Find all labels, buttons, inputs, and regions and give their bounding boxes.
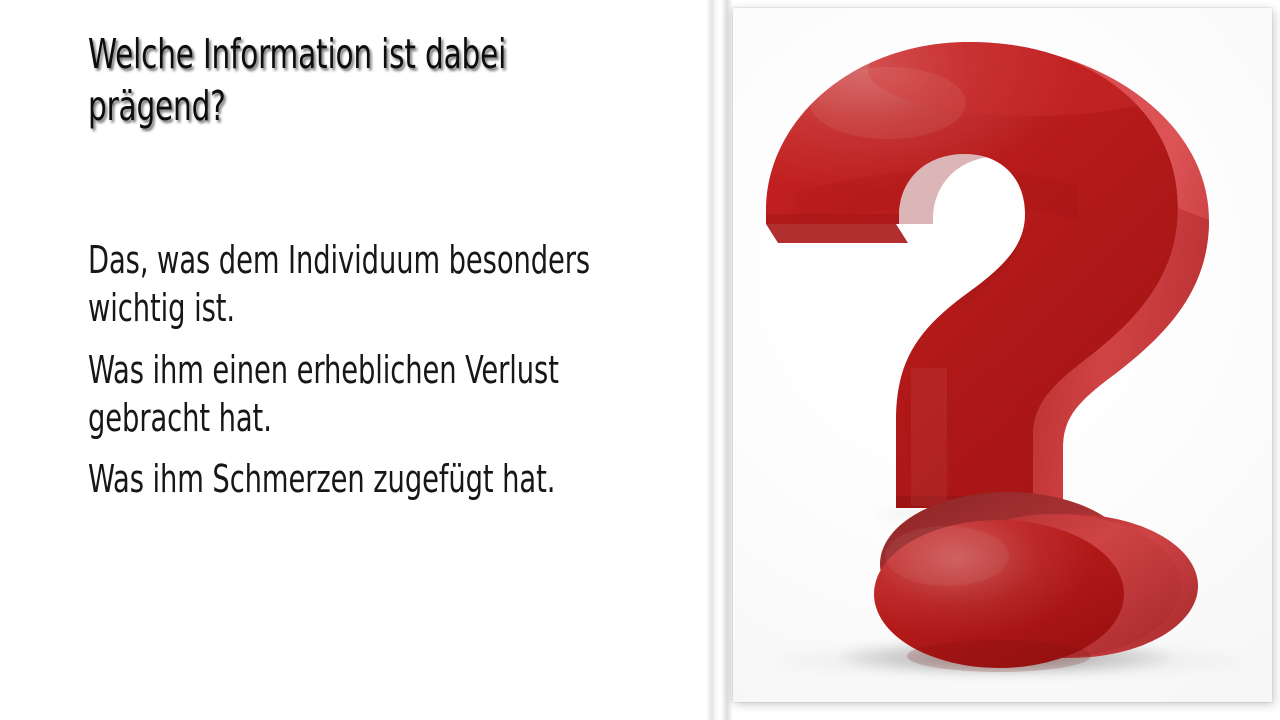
divider-band-outer — [706, 0, 719, 720]
text-pane: Welche Information ist dabei prägend? Da… — [0, 0, 706, 720]
illustration-stage — [733, 8, 1272, 702]
question-mark-dot — [874, 492, 1198, 672]
body-paragraph-3: Was ihm Schmerzen zugefügt hat. — [88, 455, 680, 503]
body-paragraph-1: Das, was dem Individuum besonders wichti… — [88, 236, 680, 333]
page-title: Welche Information ist dabei prägend? — [88, 28, 568, 133]
question-mark-icon — [733, 8, 1272, 702]
illustration-card — [733, 8, 1272, 702]
slide-root: Welche Information ist dabei prägend? Da… — [0, 0, 1280, 720]
divider-band-inner — [721, 0, 733, 720]
body-paragraph-2: Was ihm einen erheblichen Verlust gebrac… — [88, 346, 680, 443]
